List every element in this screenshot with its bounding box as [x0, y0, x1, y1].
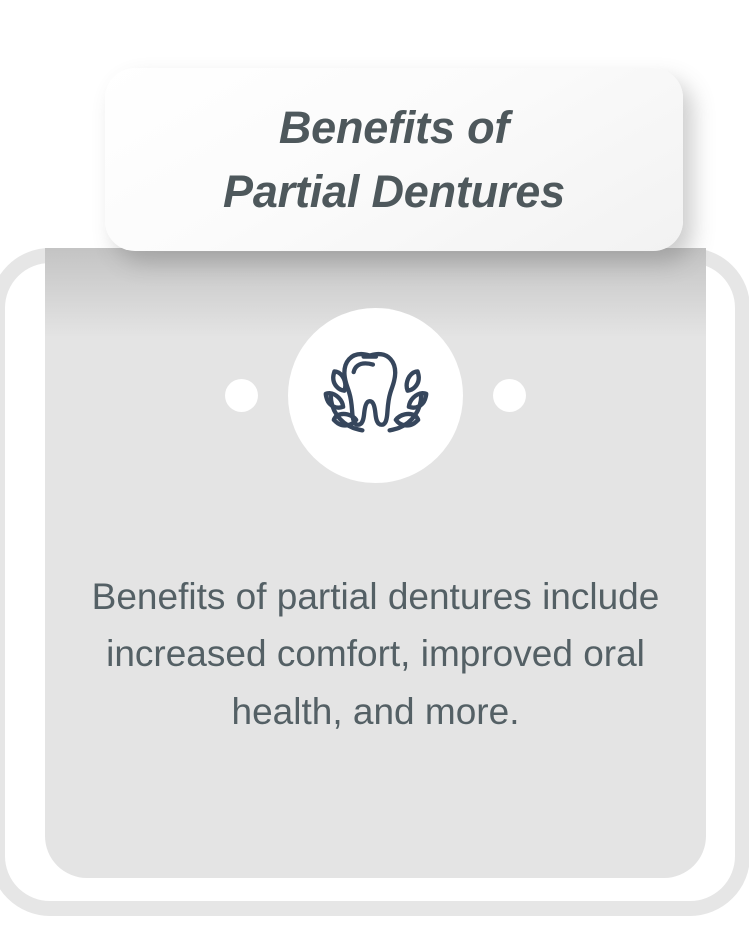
card-stage: Benefits of partial dentures include inc… [0, 0, 749, 930]
right-dot-decoration [493, 379, 526, 412]
benefits-card: Benefits of partial dentures include inc… [45, 248, 706, 878]
tooth-laurel-icon [314, 333, 438, 457]
icon-circle-background [288, 308, 463, 483]
left-dot-decoration [225, 379, 258, 412]
card-body-text: Benefits of partial dentures include inc… [86, 568, 666, 740]
card-header: Benefits of Partial Dentures [105, 68, 683, 251]
card-title: Benefits of Partial Dentures [223, 96, 565, 224]
icon-row [45, 305, 706, 485]
